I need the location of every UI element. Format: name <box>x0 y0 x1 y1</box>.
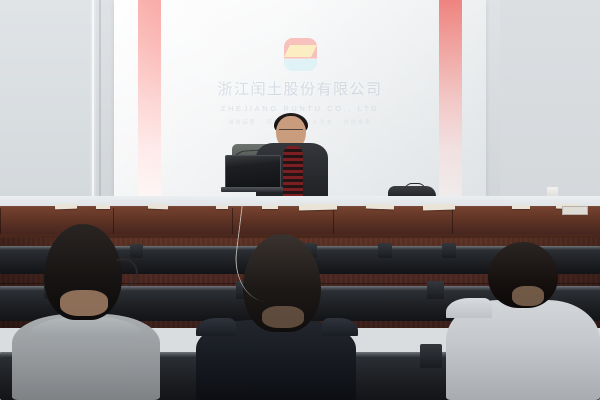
desk-paper <box>423 203 455 210</box>
slide-accent-band-right <box>439 0 462 196</box>
desk-paper <box>216 205 228 209</box>
desk-paper <box>55 204 77 210</box>
seat-armrest <box>442 243 456 258</box>
runtu-company-logo-icon <box>284 38 317 71</box>
seat-armrest <box>130 244 143 258</box>
right-person-neck <box>512 286 544 306</box>
laptop-base <box>221 187 283 192</box>
desk-paper <box>512 205 530 209</box>
logo-diagonal-band <box>284 45 317 57</box>
conference-room-photo: 浙江闰土股份有限公司 ZHEJIANG RUNTU CO., LTD 诚信品质 … <box>0 0 600 400</box>
desk-paper <box>148 204 168 210</box>
seat-armrest <box>378 243 392 258</box>
presenter-laptop <box>225 155 281 190</box>
slide-title-english: ZHEJIANG RUNTU CO., LTD <box>221 104 379 113</box>
slide-title-chinese: 浙江闰土股份有限公司 <box>217 78 382 99</box>
center-person-shoulder-right <box>322 318 358 336</box>
desk-paper <box>96 205 110 209</box>
desk-panel <box>333 208 453 234</box>
desk-nameplate <box>562 206 588 215</box>
seat-armrest <box>420 344 442 368</box>
desk-paper <box>366 204 394 210</box>
presenter-glasses-icon <box>279 129 303 136</box>
seat-armrest <box>427 281 444 299</box>
slide-accent-band-left <box>138 0 161 196</box>
left-person-neck <box>60 290 108 316</box>
logo-bottom-shape <box>284 59 317 71</box>
desk-paper <box>299 204 337 211</box>
desk-panel <box>113 208 233 234</box>
right-person-shoulder <box>446 298 492 318</box>
center-person-shoulder-left <box>196 318 236 336</box>
center-person-neck <box>262 306 304 328</box>
